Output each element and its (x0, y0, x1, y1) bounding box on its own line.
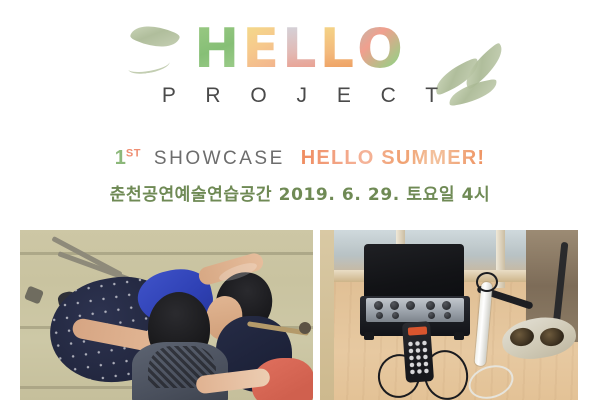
group-embrace-photo (20, 230, 313, 400)
showcase-title: HELLO SUMMER! (301, 147, 485, 169)
mixer-knob-5 (442, 301, 451, 310)
logo-wordmark: HELLO (0, 18, 600, 80)
mixer-knob-3 (406, 301, 415, 310)
showcase-ordinal-suffix: ST (126, 147, 141, 159)
mixer-knob-9 (444, 312, 451, 319)
case-foot-right (454, 332, 464, 340)
mixer-knob-2 (390, 301, 399, 310)
logo-letter-h: H (194, 18, 242, 80)
mixer-knob-8 (428, 312, 435, 319)
photo-row (20, 230, 578, 400)
poster-canvas: HELLO P R O J E C T 1STSHOWCASEHELLO SUM… (0, 0, 600, 400)
showcase-label: SHOWCASE (154, 148, 285, 169)
mixer-knob-1 (374, 301, 383, 310)
case-foot-left (364, 332, 374, 340)
showcase-headline: 1STSHOWCASEHELLO SUMMER! (0, 140, 600, 173)
logo-subtitle: P R O J E C T (0, 84, 600, 108)
equipment-photo (320, 230, 578, 400)
logo-letter-l-second: L (320, 18, 357, 80)
remote-display (408, 326, 428, 335)
case-lid (364, 244, 464, 302)
venue-date-line: 춘천공연예술연습공간 2019. 6. 29. 토요일 4시 (0, 183, 600, 207)
hello-project-logo: HELLO P R O J E C T (0, 18, 600, 130)
remote-keypad (407, 339, 429, 376)
cane-wrist-strap (476, 272, 498, 292)
mixer-knob-7 (392, 312, 399, 319)
showcase-ordinal: 1ST (115, 147, 141, 169)
showcase-ordinal-number: 1 (115, 147, 126, 169)
logo-letter-e: E (242, 18, 282, 80)
mixer-knob-6 (376, 312, 383, 319)
logo-letter-l-first: L (282, 18, 319, 80)
left-wall-edge (320, 230, 334, 400)
cane-knob (299, 322, 311, 334)
logo-letter-o: O (357, 18, 406, 80)
mixer-knob-4 (426, 301, 435, 310)
